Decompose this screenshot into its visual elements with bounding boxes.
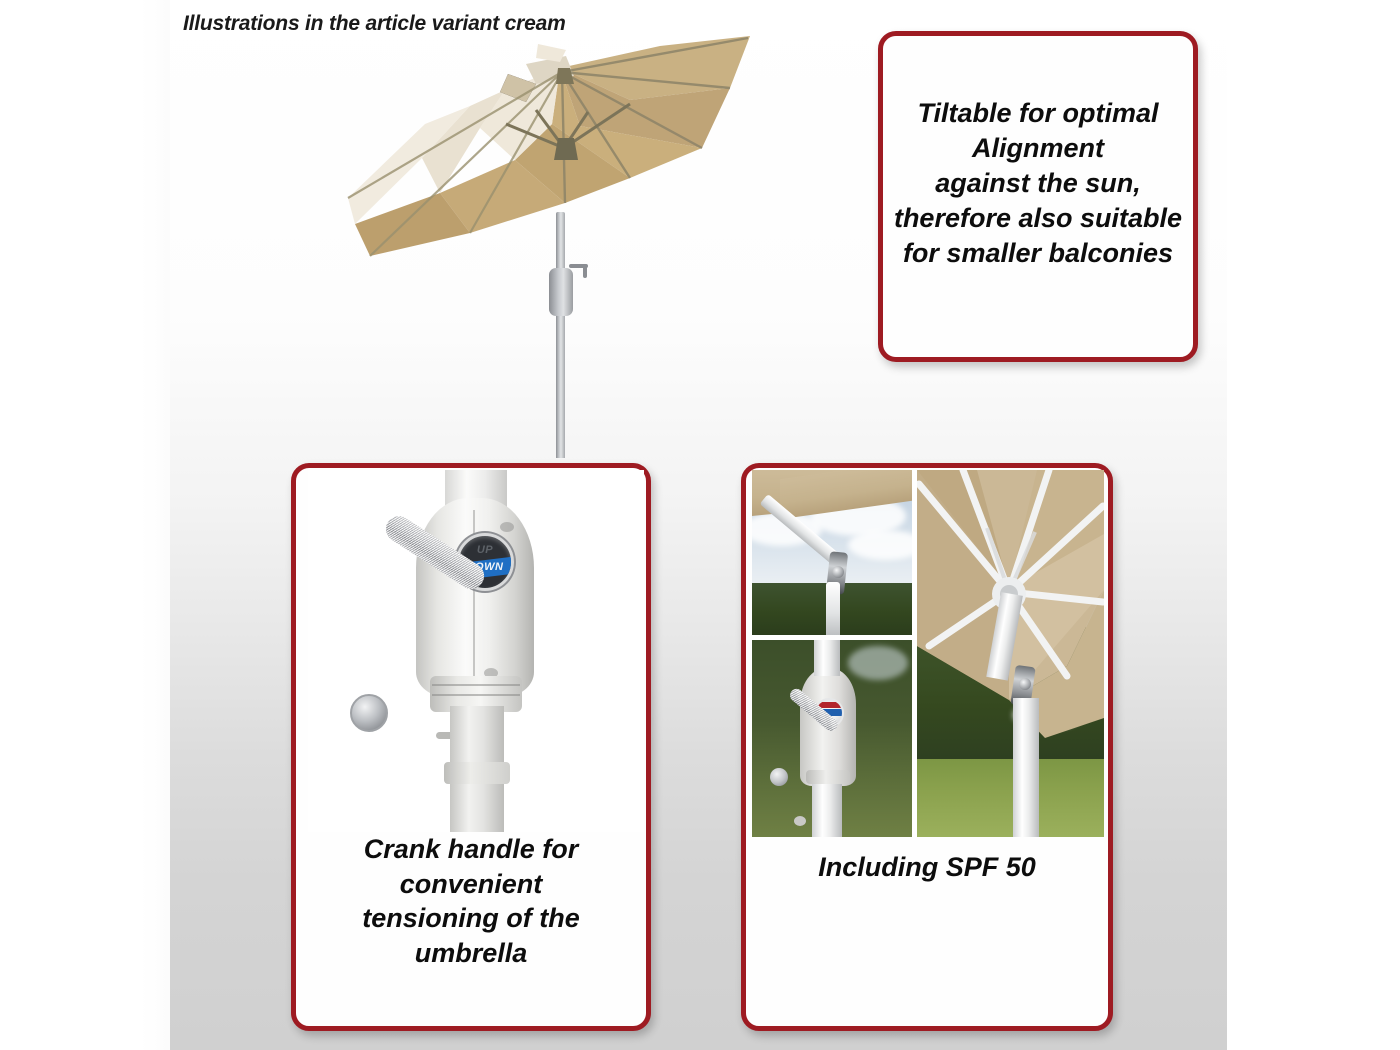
umbrella-crank-housing — [549, 268, 573, 316]
tiltable-line-2: Alignment — [877, 131, 1199, 166]
spf-caption: Including SPF 50 — [746, 850, 1108, 885]
crank-line-2: convenient — [296, 867, 646, 902]
tilt-joint-photo — [752, 470, 912, 635]
umbrella-canopy-illustration — [330, 28, 770, 298]
crank-mechanism-photo — [752, 640, 912, 837]
crank-caption: Crank handle for convenient tensioning o… — [296, 832, 646, 970]
pole-below-crank — [812, 778, 842, 837]
pole-pin-small — [794, 816, 806, 826]
crank-housing-dimple-top — [500, 522, 514, 532]
dial-up-label: UP — [459, 544, 511, 556]
tiltable-line-4: therefore also suitable — [877, 201, 1199, 236]
crank-lower-ring — [444, 762, 510, 784]
tiltable-callout-text: Tiltable for optimal Alignment against t… — [877, 96, 1199, 271]
crank-closeup-photo: UP DOWN — [308, 470, 644, 832]
lower-pole — [1013, 698, 1039, 837]
crank-handle-knob — [350, 694, 388, 732]
crank-collar-line-1 — [432, 684, 520, 686]
spf-photo-collage — [752, 470, 1104, 837]
crank-line-4: umbrella — [296, 936, 646, 971]
umbrella-crank-knob — [583, 264, 587, 278]
main-umbrella-photo — [330, 28, 770, 458]
crank-line-1: Crank handle for — [296, 832, 646, 867]
tiltable-callout-card: Tiltable for optimal Alignment against t… — [878, 31, 1198, 362]
umbrella-pole — [556, 212, 565, 458]
crank-line-3: tensioning of the — [296, 901, 646, 936]
tiltable-line-3: against the sun, — [877, 166, 1199, 201]
joint-bolt — [1019, 678, 1031, 690]
tiltable-line-1: Tiltable for optimal — [877, 96, 1199, 131]
infographic-canvas: Illustrations in the article variant cre… — [0, 0, 1400, 1050]
crank-callout-card: UP DOWN Crank handle for convenient tens… — [291, 463, 651, 1031]
crank-collar-small — [806, 770, 850, 784]
crank-housing — [416, 498, 534, 698]
pole-above-crank — [814, 640, 840, 676]
spf-callout-card: Including SPF 50 — [741, 463, 1113, 1031]
crank-knob-small — [770, 768, 788, 786]
lower-pole-segment — [826, 582, 840, 635]
tiltable-line-5: for smaller balconies — [877, 236, 1199, 271]
sky-gap — [848, 646, 908, 680]
crank-collar-line-2 — [432, 694, 520, 696]
canopy-underside-photo — [917, 470, 1104, 837]
joint-bolt — [832, 566, 844, 578]
